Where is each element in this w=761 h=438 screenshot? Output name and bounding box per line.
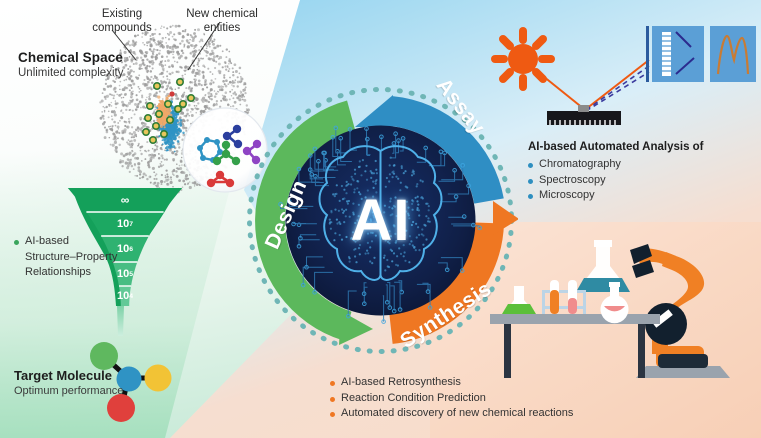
funnel-band-label-2: 107 xyxy=(60,216,190,232)
assay-item-microscopy: Microscopy xyxy=(528,188,748,204)
callout-existing-line1: Existing xyxy=(79,8,165,22)
spectroscopy-graphic xyxy=(486,14,761,132)
funnel-side-note: AI-based Structure–Property Relationship… xyxy=(14,234,134,281)
synthesis-item-reaction-discovery: Automated discovery of new chemical reac… xyxy=(330,406,630,422)
callout-new-chemical-entities: New chemical entities xyxy=(176,8,268,35)
detector-edge xyxy=(646,26,649,82)
chemical-space-heading: Chemical Space Unlimited complexity xyxy=(18,50,123,79)
funnel-band-value: ∞ xyxy=(121,193,130,207)
robotic-lab-graphic xyxy=(480,228,761,378)
target-molecule-heading: Target Molecule Optimum performance xyxy=(14,368,123,397)
funnel-side-note-l2: Structure–Property xyxy=(25,251,117,263)
funnel-side-note-l1: AI-based xyxy=(25,235,69,247)
detector-scale xyxy=(662,32,671,76)
assay-item-chromatography: Chromatography xyxy=(528,157,748,173)
synthesis-bullet-list: AI-based Retrosynthesis Reaction Conditi… xyxy=(330,375,630,422)
chemical-space-title: Chemical Space xyxy=(18,50,123,65)
synthesis-item-retrosynthesis: AI-based Retrosynthesis xyxy=(330,375,630,391)
bench-top xyxy=(490,314,660,324)
funnel-band-exponent: 4 xyxy=(129,293,133,300)
atom-red xyxy=(107,394,135,422)
light-source-icon xyxy=(495,31,551,87)
assay-item-spectroscopy: Spectroscopy xyxy=(528,173,748,189)
funnel-side-note-item: AI-based Structure–Property Relationship… xyxy=(14,234,134,281)
assay-bullet-list: Chromatography Spectroscopy Microscopy xyxy=(528,157,748,204)
atom-yellow xyxy=(145,365,172,392)
funnel-band-label-1: ∞ xyxy=(60,192,190,208)
funnel-band-value: 10 xyxy=(117,290,129,302)
beam-signal-1 xyxy=(586,66,649,110)
assay-heading: AI-based Automated Analysis of xyxy=(528,141,748,153)
callout-existing-line2: compounds xyxy=(79,22,165,36)
beam-incident xyxy=(538,72,584,109)
infographic-ai-drug-discovery: Existing compounds New chemical entities… xyxy=(0,0,761,438)
assay-text-block: AI-based Automated Analysis of Chromatog… xyxy=(528,141,748,204)
chemical-space-subtitle: Unlimited complexity xyxy=(18,67,123,79)
callout-new-line1: New chemical xyxy=(176,8,268,22)
bench-leg-left xyxy=(504,324,511,378)
funnel-band-label-5: 104 xyxy=(60,288,190,304)
held-flask xyxy=(576,240,630,292)
test-tube-rack xyxy=(542,280,586,314)
flask-green xyxy=(502,286,536,314)
callout-new-line2: entities xyxy=(176,22,268,36)
robot-base-top xyxy=(658,354,708,368)
funnel-side-note-l3: Relationships xyxy=(25,266,91,278)
synthesis-item-condition-prediction: Reaction Condition Prediction xyxy=(330,391,630,407)
sample-plate xyxy=(547,105,621,125)
design-make-test-cycle: AI Assay Design Synthesis xyxy=(243,83,518,358)
beam-reflected xyxy=(586,60,649,109)
target-molecule-subtitle: Optimum performance xyxy=(14,385,123,397)
beam-signal-2 xyxy=(586,72,649,111)
target-molecule-title: Target Molecule xyxy=(14,368,123,383)
funnel-band-exponent: 7 xyxy=(129,221,133,228)
bench-leg-right xyxy=(638,324,645,378)
callout-existing-compounds: Existing compounds xyxy=(79,8,165,35)
atom-green xyxy=(90,342,118,370)
funnel-band-value: 10 xyxy=(117,218,129,230)
